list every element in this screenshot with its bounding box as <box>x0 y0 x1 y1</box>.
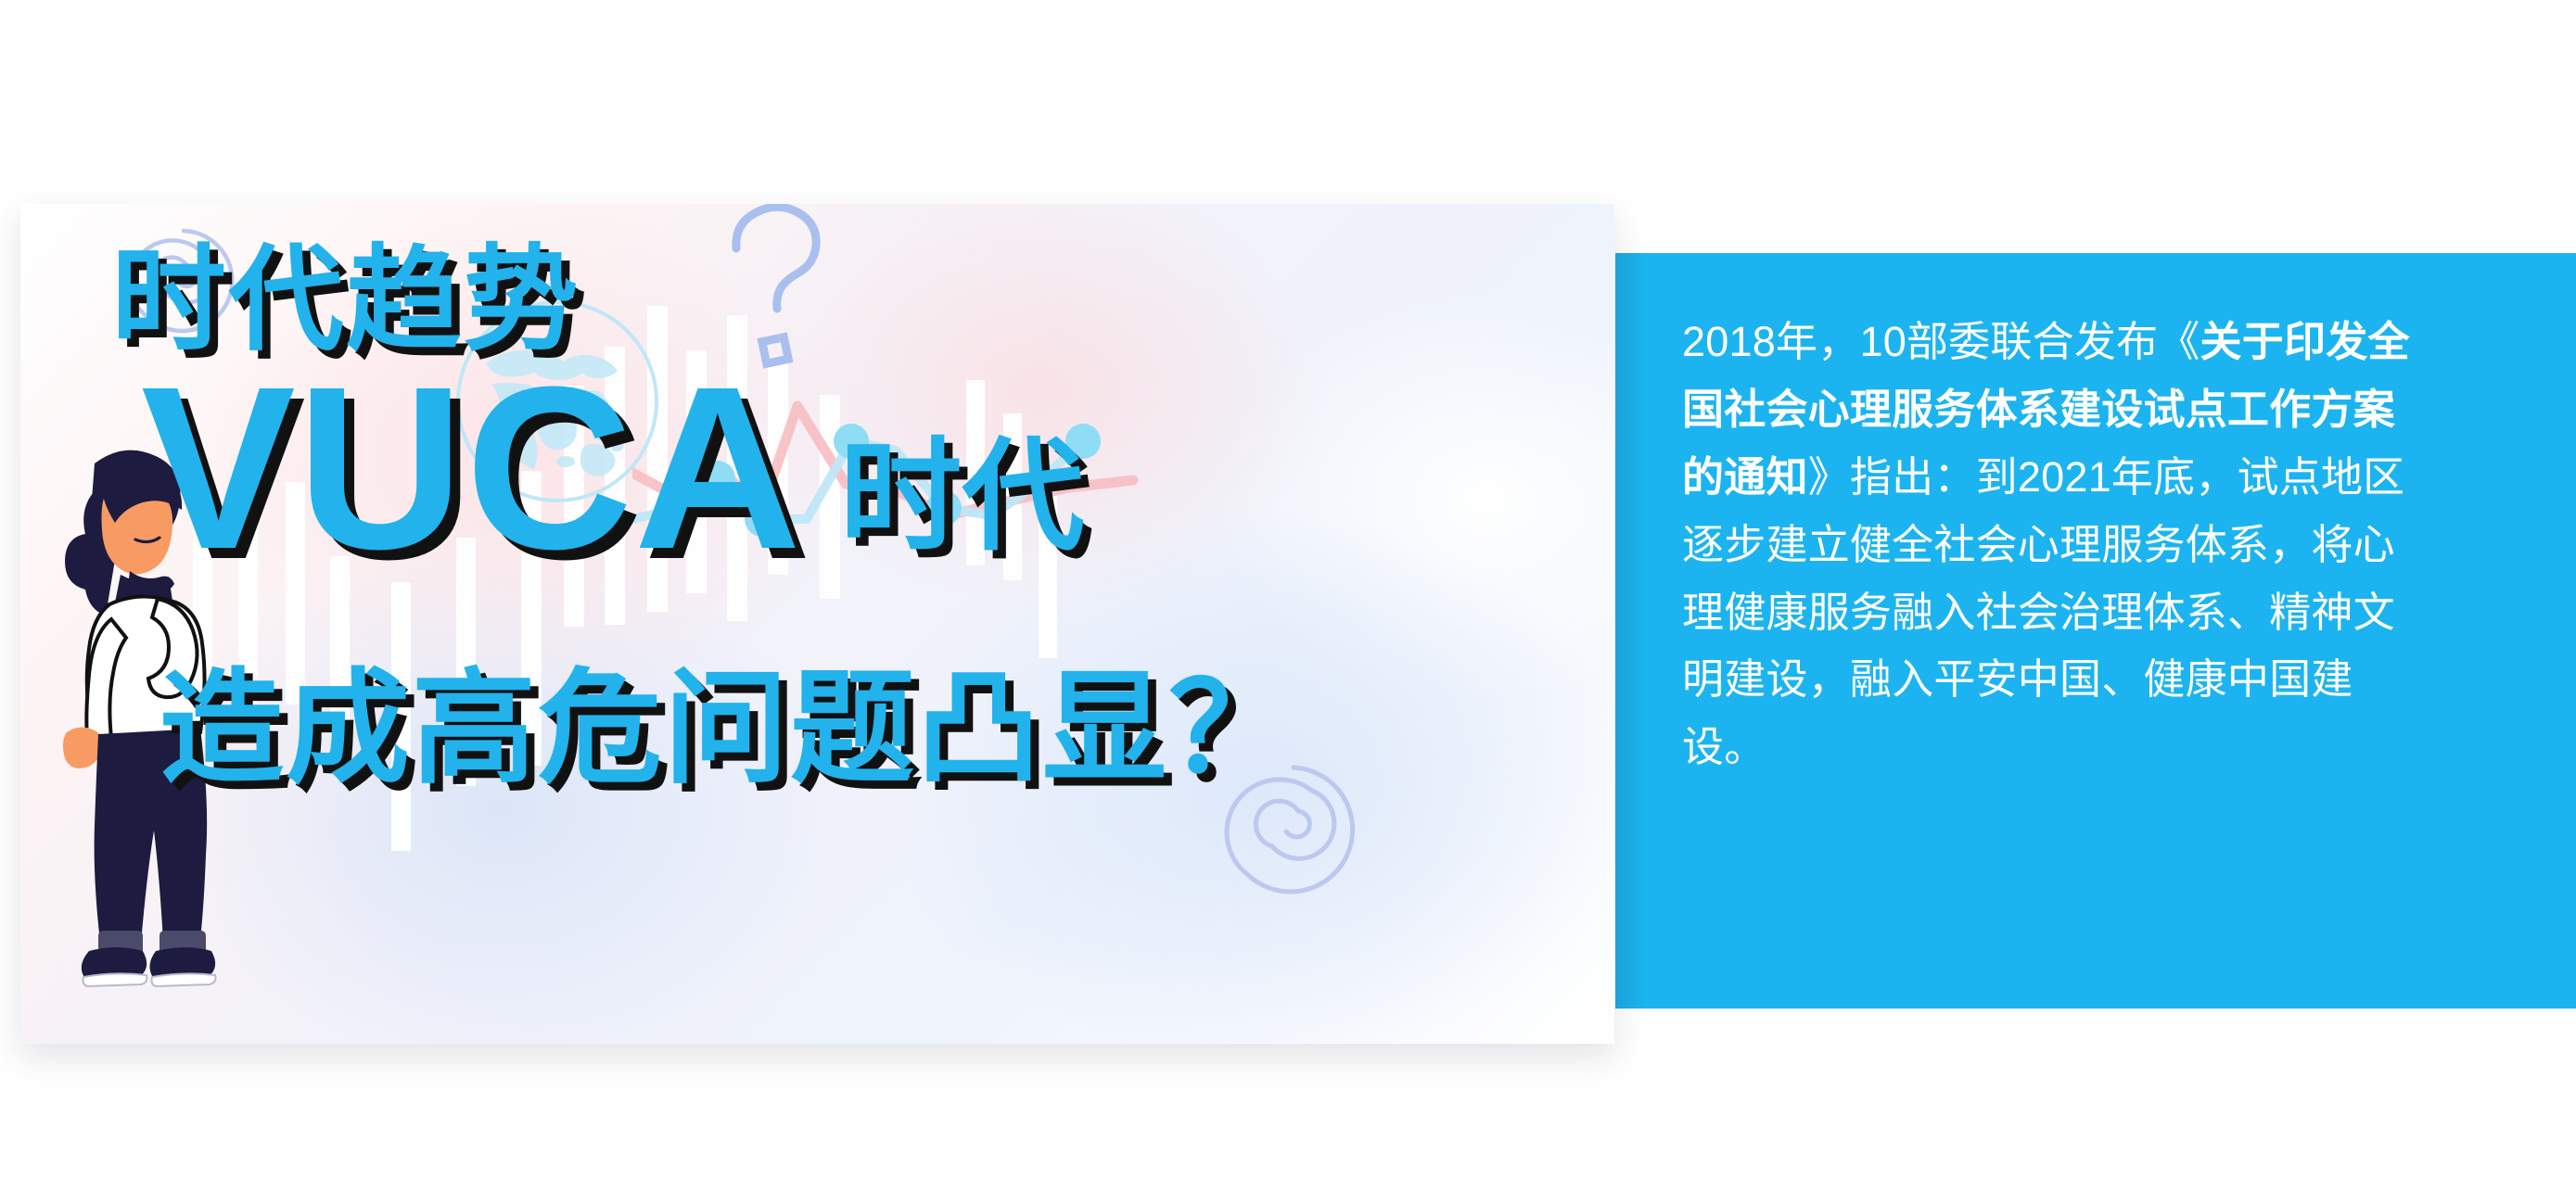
hero-card: 时代趋势 VUCA 时代 造成高危问题凸显？ <box>20 204 1614 1044</box>
info-paragraph: 2018年，10部委联合发布《关于印发全国社会心理服务体系建设试点工作方案的通知… <box>1682 309 2419 781</box>
poster-canvas: 时代趋势 VUCA 时代 造成高危问题凸显？ 2018年，10部委联合发布《关于… <box>0 0 2576 1193</box>
info-text-part-1: 2018年，10部委联合发布《 <box>1682 318 2200 365</box>
hero-line-2-suffix: 时代 <box>839 436 1084 558</box>
info-text-part-2: 》指出：到2021年底，试点地区逐步建立健全社会心理服务体系，将心理健康服务融入… <box>1682 453 2404 771</box>
hero-line-2: VUCA 时代 <box>141 362 1084 575</box>
hero-line-3: 造成高危问题凸显？ <box>159 667 1294 792</box>
info-panel: 2018年，10部委联合发布《关于印发全国社会心理服务体系建设试点工作方案的通知… <box>1615 253 2576 1009</box>
hero-acronym-vuca: VUCA <box>141 362 802 575</box>
